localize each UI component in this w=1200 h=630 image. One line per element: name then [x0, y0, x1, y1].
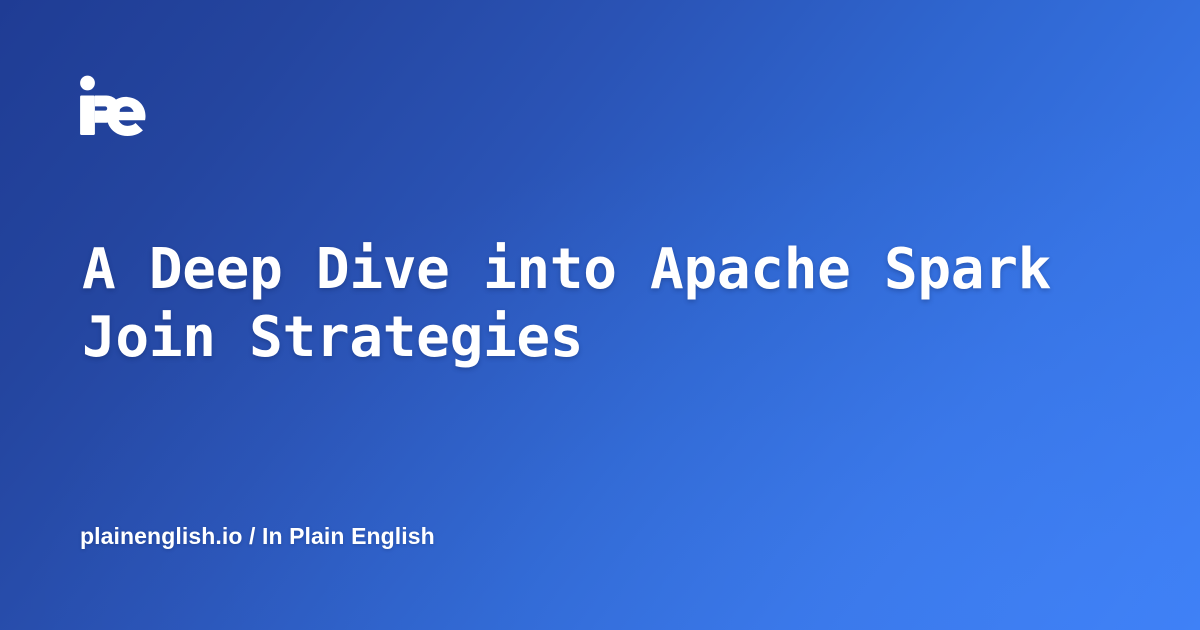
page-title: A Deep Dive into Apache Spark Join Strat…	[82, 236, 1122, 372]
card-content-layer: A Deep Dive into Apache Spark Join Strat…	[0, 0, 1200, 630]
social-share-card: A Deep Dive into Apache Spark Join Strat…	[0, 0, 1200, 630]
ipe-logo-icon[interactable]	[78, 74, 148, 136]
publication-byline: plainenglish.io / In Plain English	[80, 523, 435, 550]
